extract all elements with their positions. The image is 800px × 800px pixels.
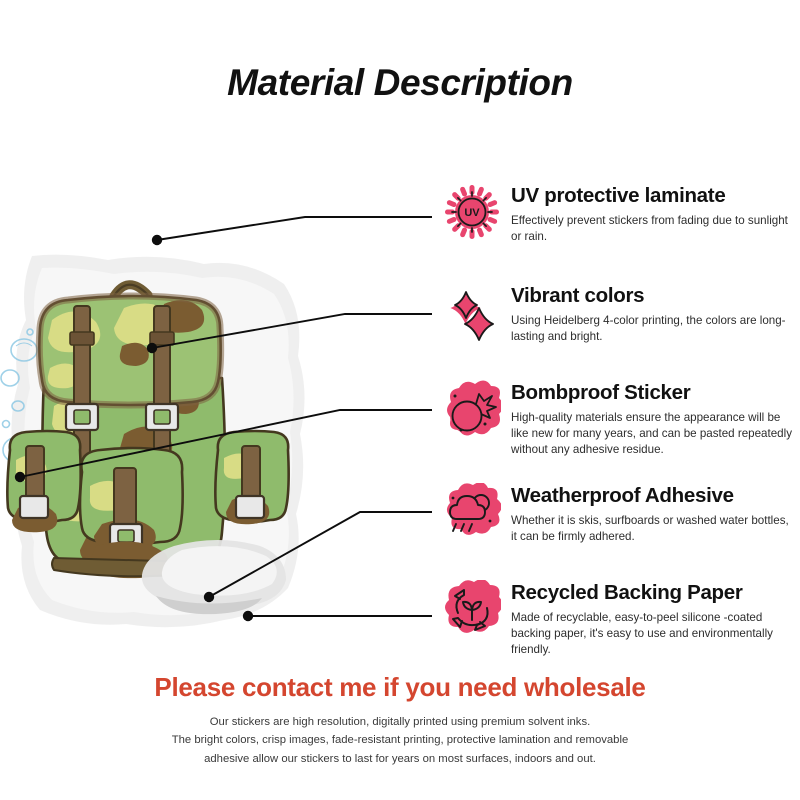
footer-note: Our stickers are high resolution, digita… <box>0 713 800 768</box>
uv-icon-label: UV <box>464 207 480 219</box>
backpack-sticker-illustration <box>0 228 346 648</box>
feature-item-recycled-backing-paper: Recycled Backing Paper Made of recyclabl… <box>443 579 793 659</box>
feature-description: Made of recyclable, easy-to-peel silicon… <box>511 610 793 659</box>
feature-description: Using Heidelberg 4-color printing, the c… <box>511 313 793 346</box>
footer-note-line-2: The bright colors, crisp images, fade-re… <box>0 731 800 749</box>
feature-text-block: Recycled Backing Paper Made of recyclabl… <box>511 579 793 659</box>
feature-item-bombproof-sticker: Bombproof Sticker High-quality materials… <box>443 379 793 459</box>
feature-item-vibrant-colors: Vibrant colors Using Heidelberg 4-color … <box>443 282 793 345</box>
uv-sun-icon: UV <box>443 183 501 241</box>
feature-title: UV protective laminate <box>511 184 793 208</box>
infographic-page: Material Description <box>0 0 800 800</box>
footer-note-line-1: Our stickers are high resolution, digita… <box>0 713 800 731</box>
feature-description: Effectively prevent stickers from fading… <box>511 213 793 246</box>
wholesale-cta-text: Please contact me if you need wholesale <box>0 672 800 703</box>
feature-description: Whether it is skis, surfboards or washed… <box>511 513 793 546</box>
page-title: Material Description <box>0 62 800 104</box>
feature-title: Bombproof Sticker <box>511 381 793 405</box>
recycle-sprout-icon <box>443 580 501 638</box>
feature-title: Recycled Backing Paper <box>511 581 793 605</box>
feature-text-block: Vibrant colors Using Heidelberg 4-color … <box>511 282 793 345</box>
feature-item-uv-protective-laminate: UV UV protective laminate Effectively pr… <box>443 182 793 245</box>
feature-text-block: Weatherproof Adhesive Whether it is skis… <box>511 482 793 545</box>
footer-note-line-3: adhesive allow our stickers to last for … <box>0 750 800 768</box>
feature-item-weatherproof-adhesive: Weatherproof Adhesive Whether it is skis… <box>443 482 793 545</box>
feature-text-block: UV protective laminate Effectively preve… <box>511 182 793 245</box>
bomb-icon <box>443 380 501 438</box>
rain-cloud-icon <box>443 483 501 541</box>
feature-title: Weatherproof Adhesive <box>511 484 793 508</box>
feature-text-block: Bombproof Sticker High-quality materials… <box>511 379 793 459</box>
sparkle-icon <box>443 283 501 341</box>
feature-description: High-quality materials ensure the appear… <box>511 410 793 459</box>
feature-title: Vibrant colors <box>511 284 793 308</box>
